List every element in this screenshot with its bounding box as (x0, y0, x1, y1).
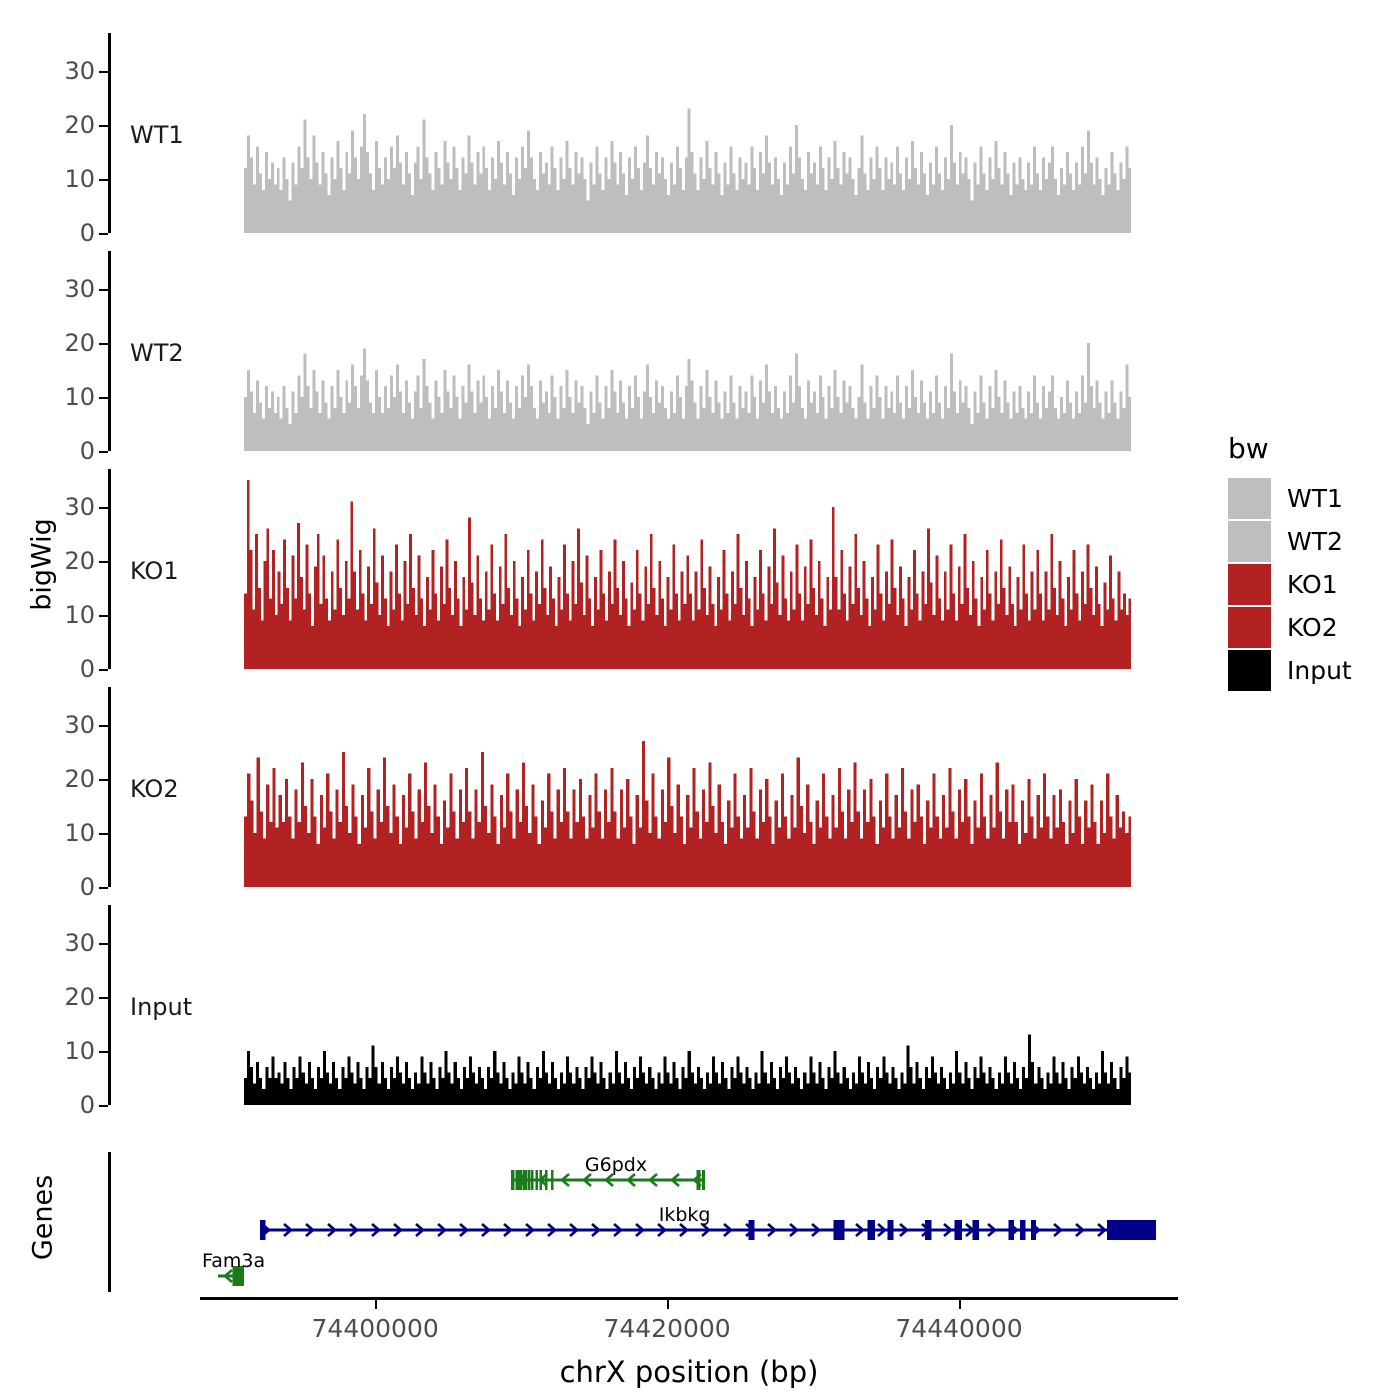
gene-label-ikbkg: Ikbkg (659, 1204, 711, 1226)
y-axis-tick (99, 561, 108, 563)
y-axis-tick-label: 10 (64, 601, 95, 629)
x-axis-tick (959, 1300, 961, 1309)
legend-item-ko2[interactable]: KO2 (1228, 606, 1352, 649)
legend-color-swatch (1228, 521, 1271, 562)
y-axis-tick (99, 71, 108, 73)
legend-item-wt2[interactable]: WT2 (1228, 520, 1352, 563)
legend-color-swatch (1228, 607, 1271, 648)
signal-area-input (244, 905, 1131, 1105)
y-axis-tick-label: 0 (80, 1091, 95, 1119)
x-axis-tick-label: 74440000 (895, 1314, 1022, 1343)
y-axis-tick-label: 0 (80, 219, 95, 247)
y-axis-tick (99, 397, 108, 399)
track-panel-wt2: 0102030WT2 (108, 251, 1136, 451)
y-axis-tick (99, 233, 108, 235)
track-label-ko2: KO2 (130, 775, 179, 803)
facet-label-bigwig: bigWig (27, 505, 58, 625)
y-axis-tick-label: 10 (64, 819, 95, 847)
y-axis-tick-label: 10 (64, 1037, 95, 1065)
y-axis-tick-label: 30 (64, 57, 95, 85)
y-axis-tick-label: 10 (64, 165, 95, 193)
y-axis-tick-label: 20 (64, 547, 95, 575)
y-axis-line (108, 905, 111, 1105)
track-label-input: Input (130, 993, 192, 1021)
track-label-ko1: KO1 (130, 557, 179, 585)
y-axis-tick (99, 615, 108, 617)
y-axis-tick (99, 725, 108, 727)
y-axis-tick-label: 20 (64, 983, 95, 1011)
y-axis-tick (99, 669, 108, 671)
legend-item-ko1[interactable]: KO1 (1228, 563, 1352, 606)
track-panel-wt1: 0102030WT1 (108, 33, 1136, 233)
signal-area-wt2 (244, 251, 1131, 451)
track-label-wt1: WT1 (130, 121, 184, 149)
y-axis-tick (99, 343, 108, 345)
y-axis-tick (99, 833, 108, 835)
legend: bw WT1WT2KO1KO2Input (1228, 432, 1352, 692)
y-axis-tick (99, 779, 108, 781)
y-axis-tick-label: 0 (80, 873, 95, 901)
y-axis-tick-label: 0 (80, 437, 95, 465)
legend-items: WT1WT2KO1KO2Input (1228, 477, 1352, 692)
legend-item-label: KO2 (1287, 613, 1338, 642)
y-axis-line (108, 33, 111, 233)
y-axis-tick-label: 10 (64, 383, 95, 411)
y-axis-line (108, 687, 111, 887)
legend-item-label: KO1 (1287, 570, 1338, 599)
legend-color-swatch (1228, 478, 1271, 519)
legend-color-swatch (1228, 564, 1271, 605)
signal-area-wt1 (244, 33, 1131, 233)
y-axis-tick (99, 943, 108, 945)
gene-label-fam3a: Fam3a (202, 1250, 265, 1272)
y-axis-tick (99, 507, 108, 509)
y-axis-tick-label: 0 (80, 655, 95, 683)
y-axis-tick-label: 30 (64, 929, 95, 957)
legend-item-label: Input (1287, 656, 1352, 685)
y-axis-tick (99, 451, 108, 453)
x-axis-tick-label: 74420000 (603, 1314, 730, 1343)
y-axis-tick-label: 20 (64, 111, 95, 139)
y-axis-tick (99, 1051, 108, 1053)
legend-item-wt1[interactable]: WT1 (1228, 477, 1352, 520)
y-axis-tick (99, 997, 108, 999)
track-panel-input: 0102030Input (108, 905, 1136, 1105)
track-panel-ko2: 0102030KO2 (108, 687, 1136, 887)
signal-area-ko1 (244, 469, 1131, 669)
track-label-wt2: WT2 (130, 339, 184, 367)
track-panel-ko1: 0102030KO1 (108, 469, 1136, 669)
y-axis-tick-label: 30 (64, 711, 95, 739)
legend-item-label: WT1 (1287, 484, 1343, 513)
y-axis-tick-label: 30 (64, 275, 95, 303)
y-axis-tick (99, 125, 108, 127)
y-axis-tick (99, 179, 108, 181)
y-axis-tick-label: 20 (64, 765, 95, 793)
signal-area-ko2 (244, 687, 1131, 887)
y-axis-line (108, 469, 111, 669)
legend-item-label: WT2 (1287, 527, 1343, 556)
x-axis-tick (667, 1300, 669, 1309)
legend-item-input[interactable]: Input (1228, 649, 1352, 692)
y-axis-tick (99, 289, 108, 291)
y-axis-tick-label: 30 (64, 493, 95, 521)
x-axis-title: chrX position (bp) (560, 1355, 819, 1389)
x-axis-tick-label: 74400000 (312, 1314, 439, 1343)
x-axis-line (200, 1297, 1178, 1300)
x-axis-tick (375, 1300, 377, 1309)
y-axis-tick (99, 887, 108, 889)
y-axis-tick (99, 1105, 108, 1107)
y-axis-tick-label: 20 (64, 329, 95, 357)
genes-track: G6pdxIkbkgFam3a (0, 1152, 1400, 1292)
legend-color-swatch (1228, 650, 1271, 691)
legend-title: bw (1228, 432, 1352, 465)
y-axis-line (108, 251, 111, 451)
gene-label-g6pdx: G6pdx (585, 1154, 647, 1176)
